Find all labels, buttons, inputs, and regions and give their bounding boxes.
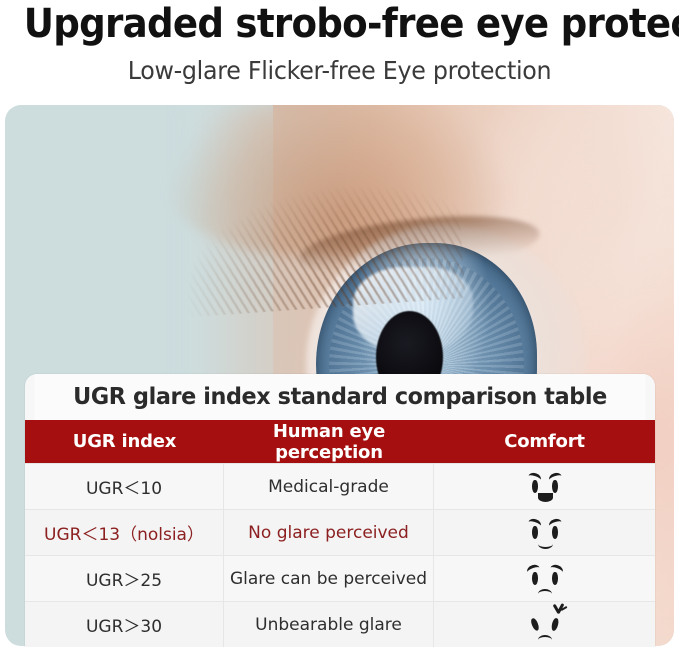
cell-ugr-index: UGR＜10 (25, 464, 224, 509)
cell-comfort (434, 602, 655, 647)
cell-ugr-index: UGR＞25 (25, 556, 224, 601)
cell-comfort (434, 556, 655, 601)
eye-right (550, 617, 559, 631)
sad-face-icon (517, 562, 573, 596)
cell-comfort (434, 510, 655, 555)
table-row: UGR＞25 Glare can be perceived (25, 555, 655, 601)
cell-perception: Medical-grade (224, 464, 434, 509)
eye-left (529, 617, 539, 631)
mouth-frown (538, 589, 552, 599)
page-title: Upgraded strobo-free eye protection (24, 2, 655, 46)
table-header-row: UGR index Human eye perception Comfort (25, 420, 655, 463)
header-block: Upgraded strobo-free eye protection Low-… (0, 0, 679, 86)
column-header-human-eye-perception: Human eye perception (224, 420, 434, 463)
column-header-ugr-index: UGR index (25, 420, 224, 463)
content-face-icon (517, 516, 573, 550)
eye-right (552, 572, 558, 585)
anger-vein-icon (553, 603, 569, 617)
cell-perception: Glare can be perceived (224, 556, 434, 601)
eye-left (532, 480, 538, 493)
cell-ugr-index: UGR＞30 (25, 602, 224, 647)
mouth-small-smile (538, 539, 553, 549)
photo-upper-eyelashes (120, 126, 466, 322)
page-subtitle: Low-glare Flicker-free Eye protection (17, 56, 662, 86)
cell-ugr-index: UGR＜13（nolsia） (25, 510, 224, 555)
eye-right (552, 480, 558, 493)
cell-perception: No glare perceived (224, 510, 434, 555)
table-title: UGR glare index standard comparison tabl… (34, 374, 645, 420)
table-row: UGR＜10 Medical-grade (25, 463, 655, 509)
happy-face-icon (517, 470, 573, 504)
eye-right (552, 526, 558, 539)
mouth-frown (538, 635, 552, 645)
table-row: UGR＜13（nolsia） No glare perceived (25, 509, 655, 555)
table-row: UGR＞30 Unbearable glare (25, 601, 655, 647)
cell-perception: Unbearable glare (224, 602, 434, 647)
anger-vein-tick (560, 605, 567, 610)
column-header-comfort: Comfort (434, 420, 655, 463)
mouth-open-smile (538, 493, 553, 502)
eye-left (532, 526, 538, 539)
ugr-comparison-table: UGR glare index standard comparison tabl… (25, 374, 655, 647)
angry-face-icon (517, 608, 573, 642)
cell-comfort (434, 464, 655, 509)
eye-left (532, 572, 538, 585)
